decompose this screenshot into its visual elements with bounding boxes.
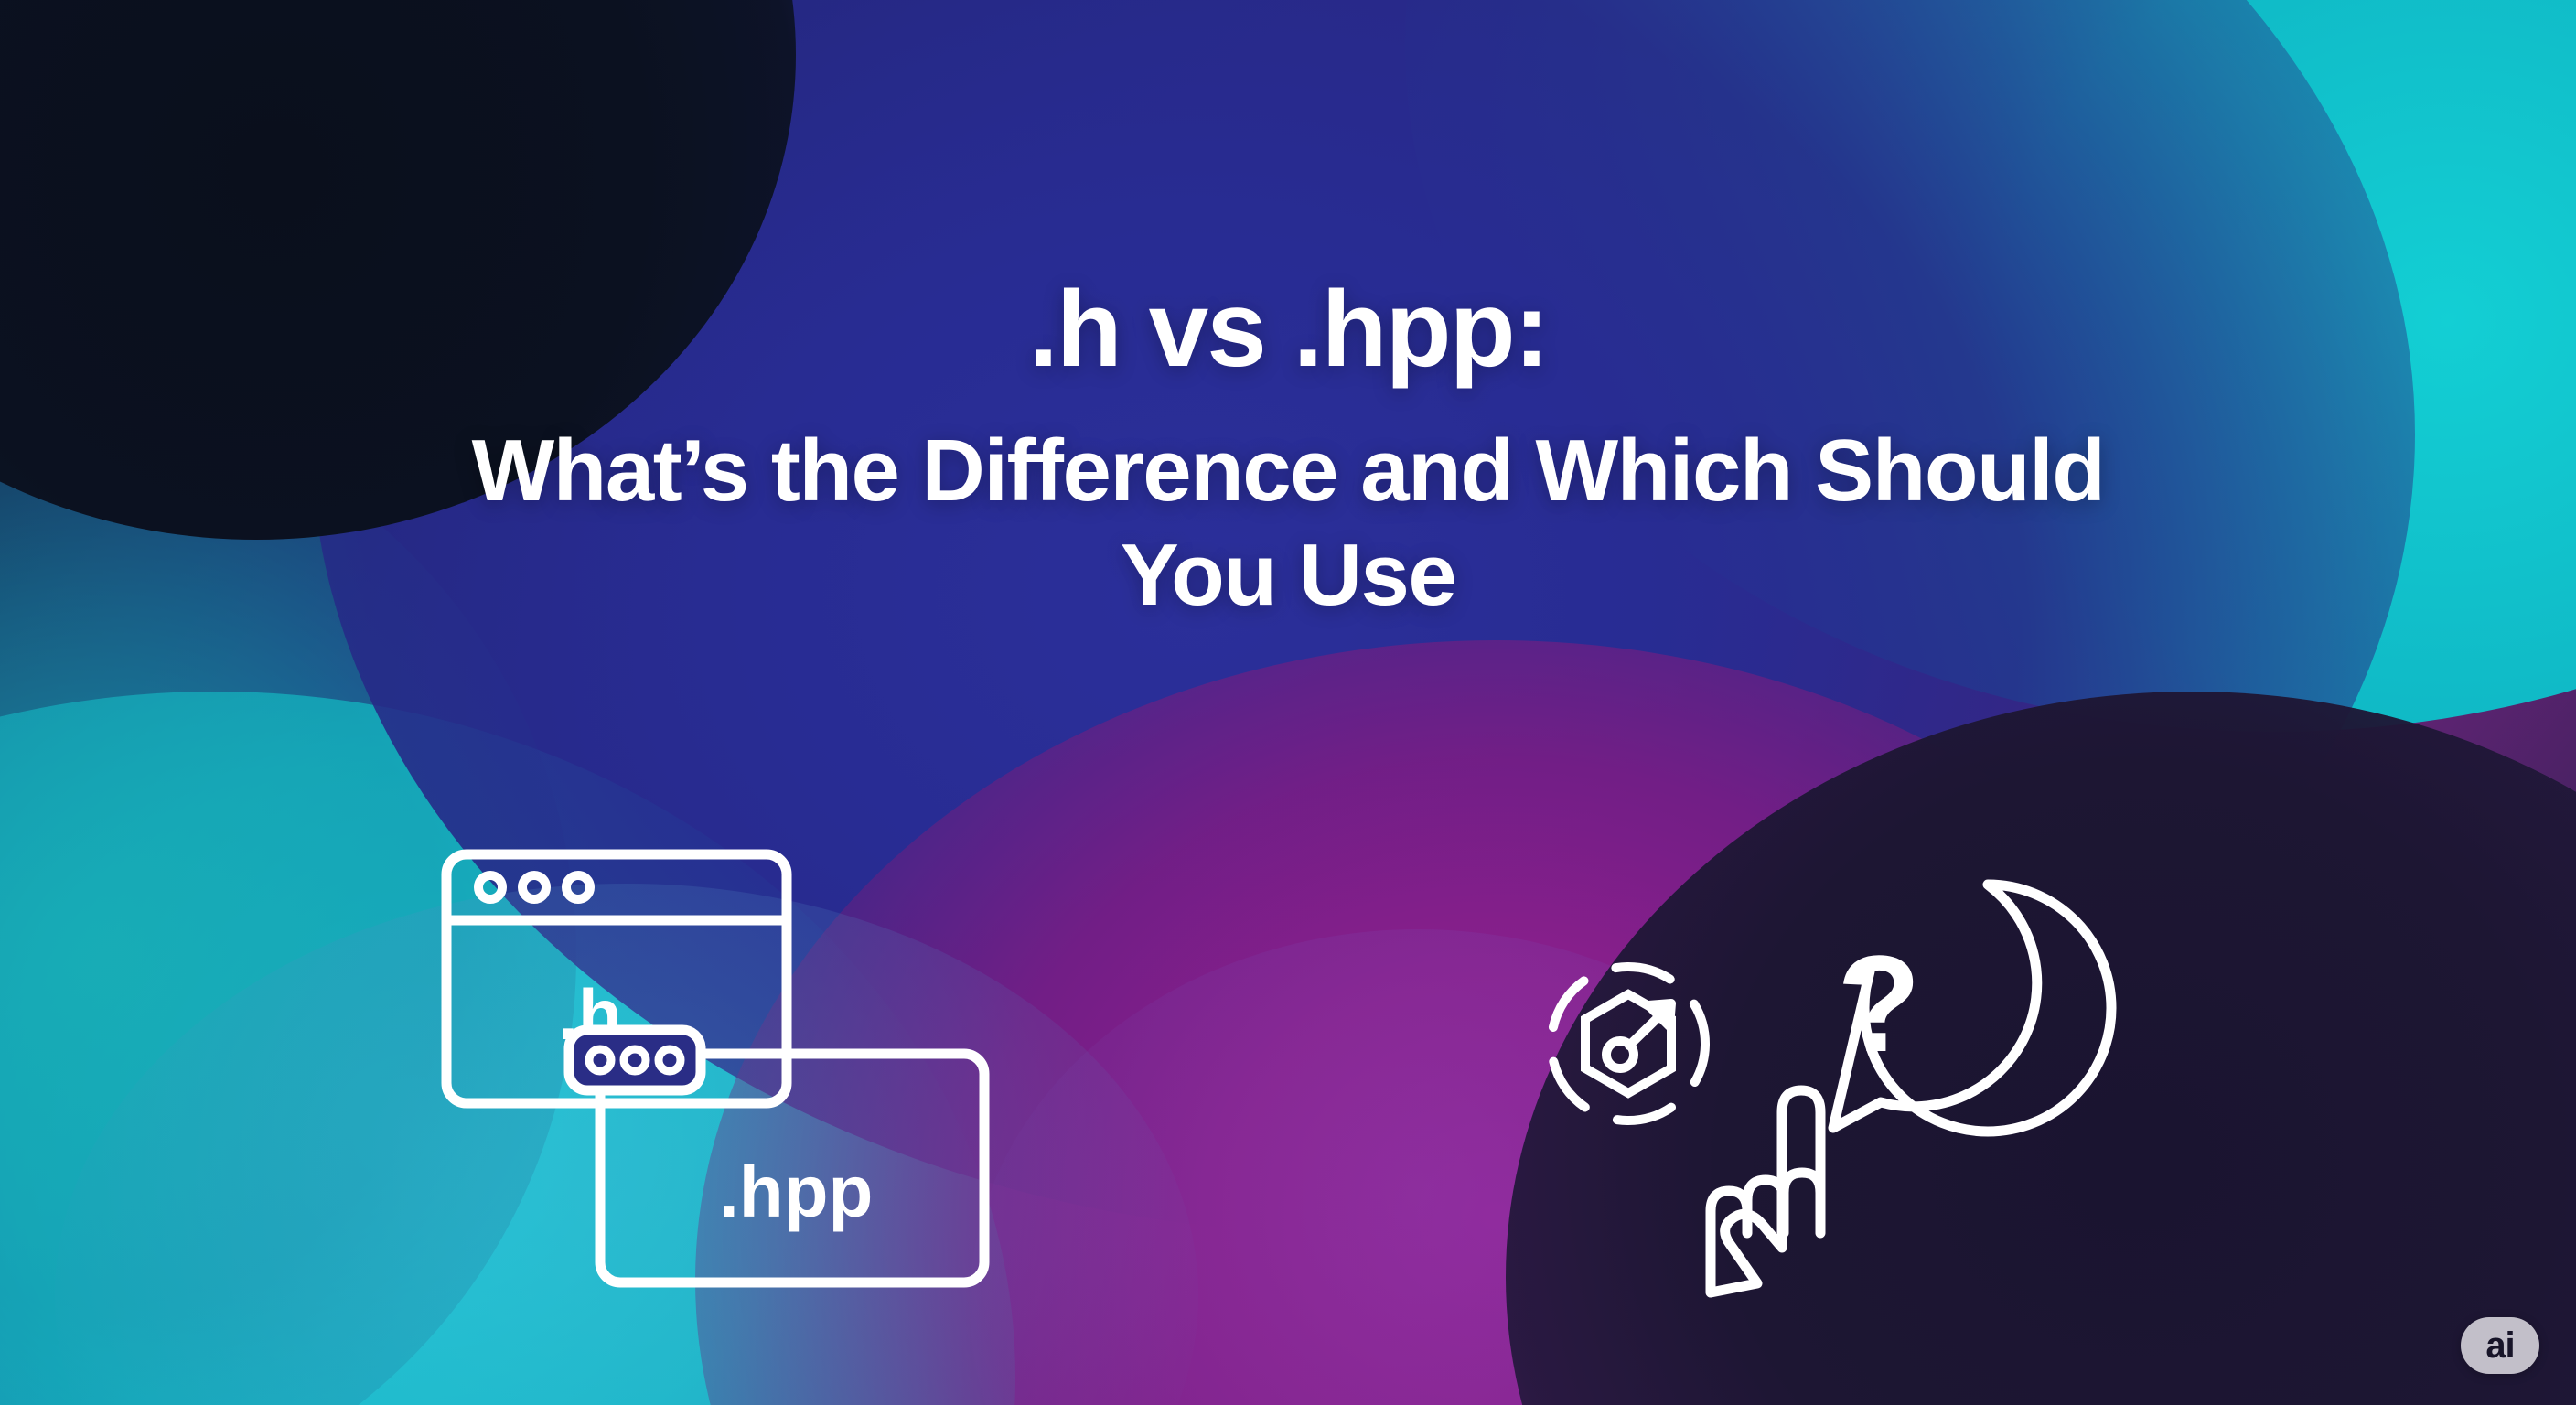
hand-outline xyxy=(1711,1090,1820,1292)
page-subtitle: What’s the Difference and Which Should Y… xyxy=(0,419,2576,627)
question-illustration-svg: ? xyxy=(1519,837,2122,1331)
window-hpp-icon: .hpp xyxy=(569,1030,984,1282)
window-dot-icon xyxy=(566,875,590,899)
window-dot-icon xyxy=(522,875,546,899)
background-blobs xyxy=(0,0,2576,1405)
question-mark-glyph: ? xyxy=(1837,927,1921,1080)
background-base-gradient xyxy=(0,0,2576,1405)
file-windows-svg: .h .hpp xyxy=(430,842,1052,1317)
question-illustration: ? xyxy=(1519,837,2122,1335)
poster-canvas: .h vs .hpp: What’s the Difference and Wh… xyxy=(0,0,2576,1405)
pointing-hand-cursor-icon xyxy=(1711,1090,1820,1292)
headline-block: .h vs .hpp: What’s the Difference and Wh… xyxy=(0,274,2576,627)
hexagon-target-arrow-icon xyxy=(1551,967,1705,1121)
question-speech-bubble-icon: ? xyxy=(1833,885,2111,1132)
window-dot-icon xyxy=(478,875,502,899)
window-hpp-label: .hpp xyxy=(719,1151,874,1232)
file-windows-illustration: .h .hpp xyxy=(430,842,1052,1322)
ai-badge: ai xyxy=(2461,1317,2539,1374)
page-title: .h vs .hpp: xyxy=(0,274,2576,384)
